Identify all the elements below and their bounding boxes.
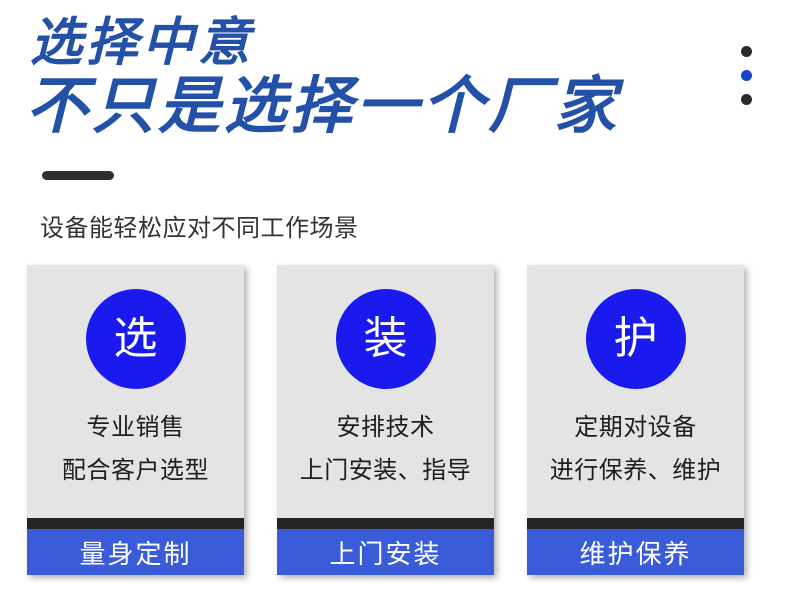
service-card-line-1: 安排技术 — [300, 407, 472, 450]
service-card-line-2: 上门安装、指导 — [300, 450, 472, 493]
service-badge-icon: 选 — [86, 289, 186, 389]
service-card-line-2: 配合客户选型 — [62, 450, 209, 493]
service-card[interactable]: 装 安排技术 上门安装、指导 上门安装 — [277, 265, 494, 575]
service-card[interactable]: 选 专业销售 配合客户选型 量身定制 — [27, 265, 244, 575]
service-card-line-1: 专业销售 — [62, 407, 209, 450]
decorative-dot-column — [737, 46, 755, 105]
headline-line-2: 不只是选择一个厂家 — [26, 76, 686, 138]
service-card-body: 装 安排技术 上门安装、指导 — [277, 265, 494, 518]
service-card-row: 选 专业销售 配合客户选型 量身定制 装 安排技术 上门安装、指导 上门安装 护… — [27, 265, 745, 575]
service-card-description: 专业销售 配合客户选型 — [62, 407, 209, 492]
service-card-line-2: 进行保养、维护 — [550, 450, 722, 493]
service-card-divider — [277, 518, 494, 529]
dot-top-icon — [741, 46, 752, 57]
service-card-footer-label[interactable]: 量身定制 — [27, 529, 244, 575]
service-card-divider — [527, 518, 744, 529]
service-card[interactable]: 护 定期对设备 进行保养、维护 维护保养 — [527, 265, 744, 575]
service-card-description: 安排技术 上门安装、指导 — [300, 407, 472, 492]
service-card-footer-label[interactable]: 上门安装 — [277, 529, 494, 575]
service-badge-icon: 护 — [586, 289, 686, 389]
service-badge-icon: 装 — [336, 289, 436, 389]
headline-block: 选择中意 不只是选择一个厂家 — [26, 18, 686, 138]
service-card-line-1: 定期对设备 — [550, 407, 722, 450]
service-card-footer-label[interactable]: 维护保养 — [527, 529, 744, 575]
dot-middle-icon — [741, 70, 752, 81]
subtitle-text: 设备能轻松应对不同工作场景 — [40, 208, 359, 243]
accent-rule-divider — [42, 171, 114, 180]
service-card-body: 选 专业销售 配合客户选型 — [27, 265, 244, 518]
headline-line-1: 选择中意 — [30, 18, 686, 70]
service-card-divider — [27, 518, 244, 529]
service-card-body: 护 定期对设备 进行保养、维护 — [527, 265, 744, 518]
service-card-description: 定期对设备 进行保养、维护 — [550, 407, 722, 492]
dot-bottom-icon — [741, 94, 752, 105]
